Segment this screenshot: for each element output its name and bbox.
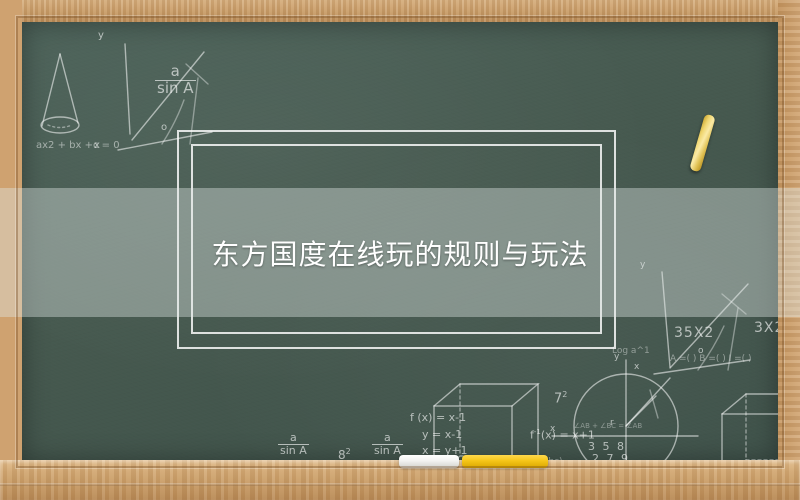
tray-lip	[0, 483, 800, 486]
chalkboard-banner: a sin A ax2 + bx +c = 0 y x o y x o 35X2…	[0, 0, 800, 500]
frame-bevel	[16, 16, 784, 468]
